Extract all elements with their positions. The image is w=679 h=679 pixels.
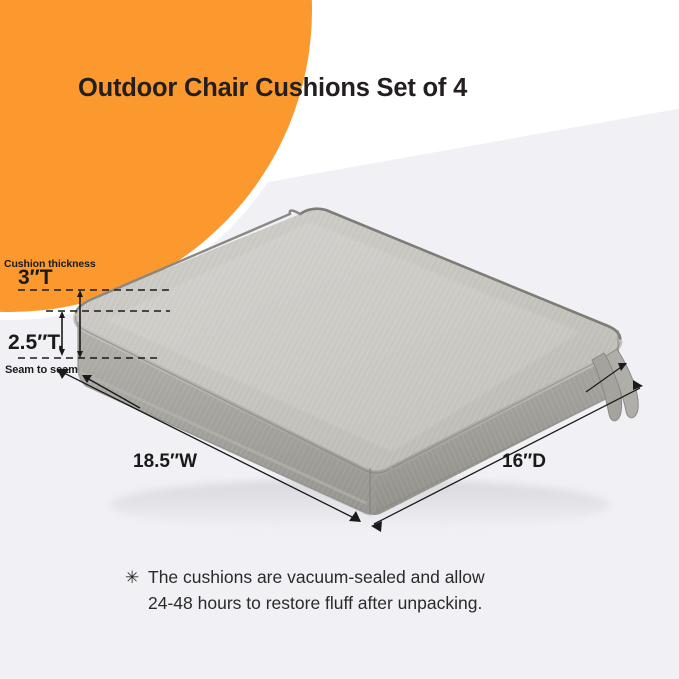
thickness-value: 3″T [18, 266, 53, 290]
infographic-canvas: Outdoor Chair Cushions Set of 4 [0, 0, 679, 679]
seam-value: 2.5″T. [8, 331, 64, 355]
footnote-line-1: The cushions are vacuum-sealed and allow [126, 565, 596, 591]
page-title: Outdoor Chair Cushions Set of 4 [78, 74, 467, 103]
footnote-line-2: 24-48 hours to restore fluff after unpac… [126, 591, 596, 617]
seam-caption: Seam to seam [5, 364, 78, 376]
depth-value: 16″D [502, 451, 546, 473]
width-value: 18.5″W [133, 451, 197, 473]
asterisk-icon: ✳ [125, 565, 139, 590]
footnote: ✳ The cushions are vacuum-sealed and all… [126, 565, 596, 617]
